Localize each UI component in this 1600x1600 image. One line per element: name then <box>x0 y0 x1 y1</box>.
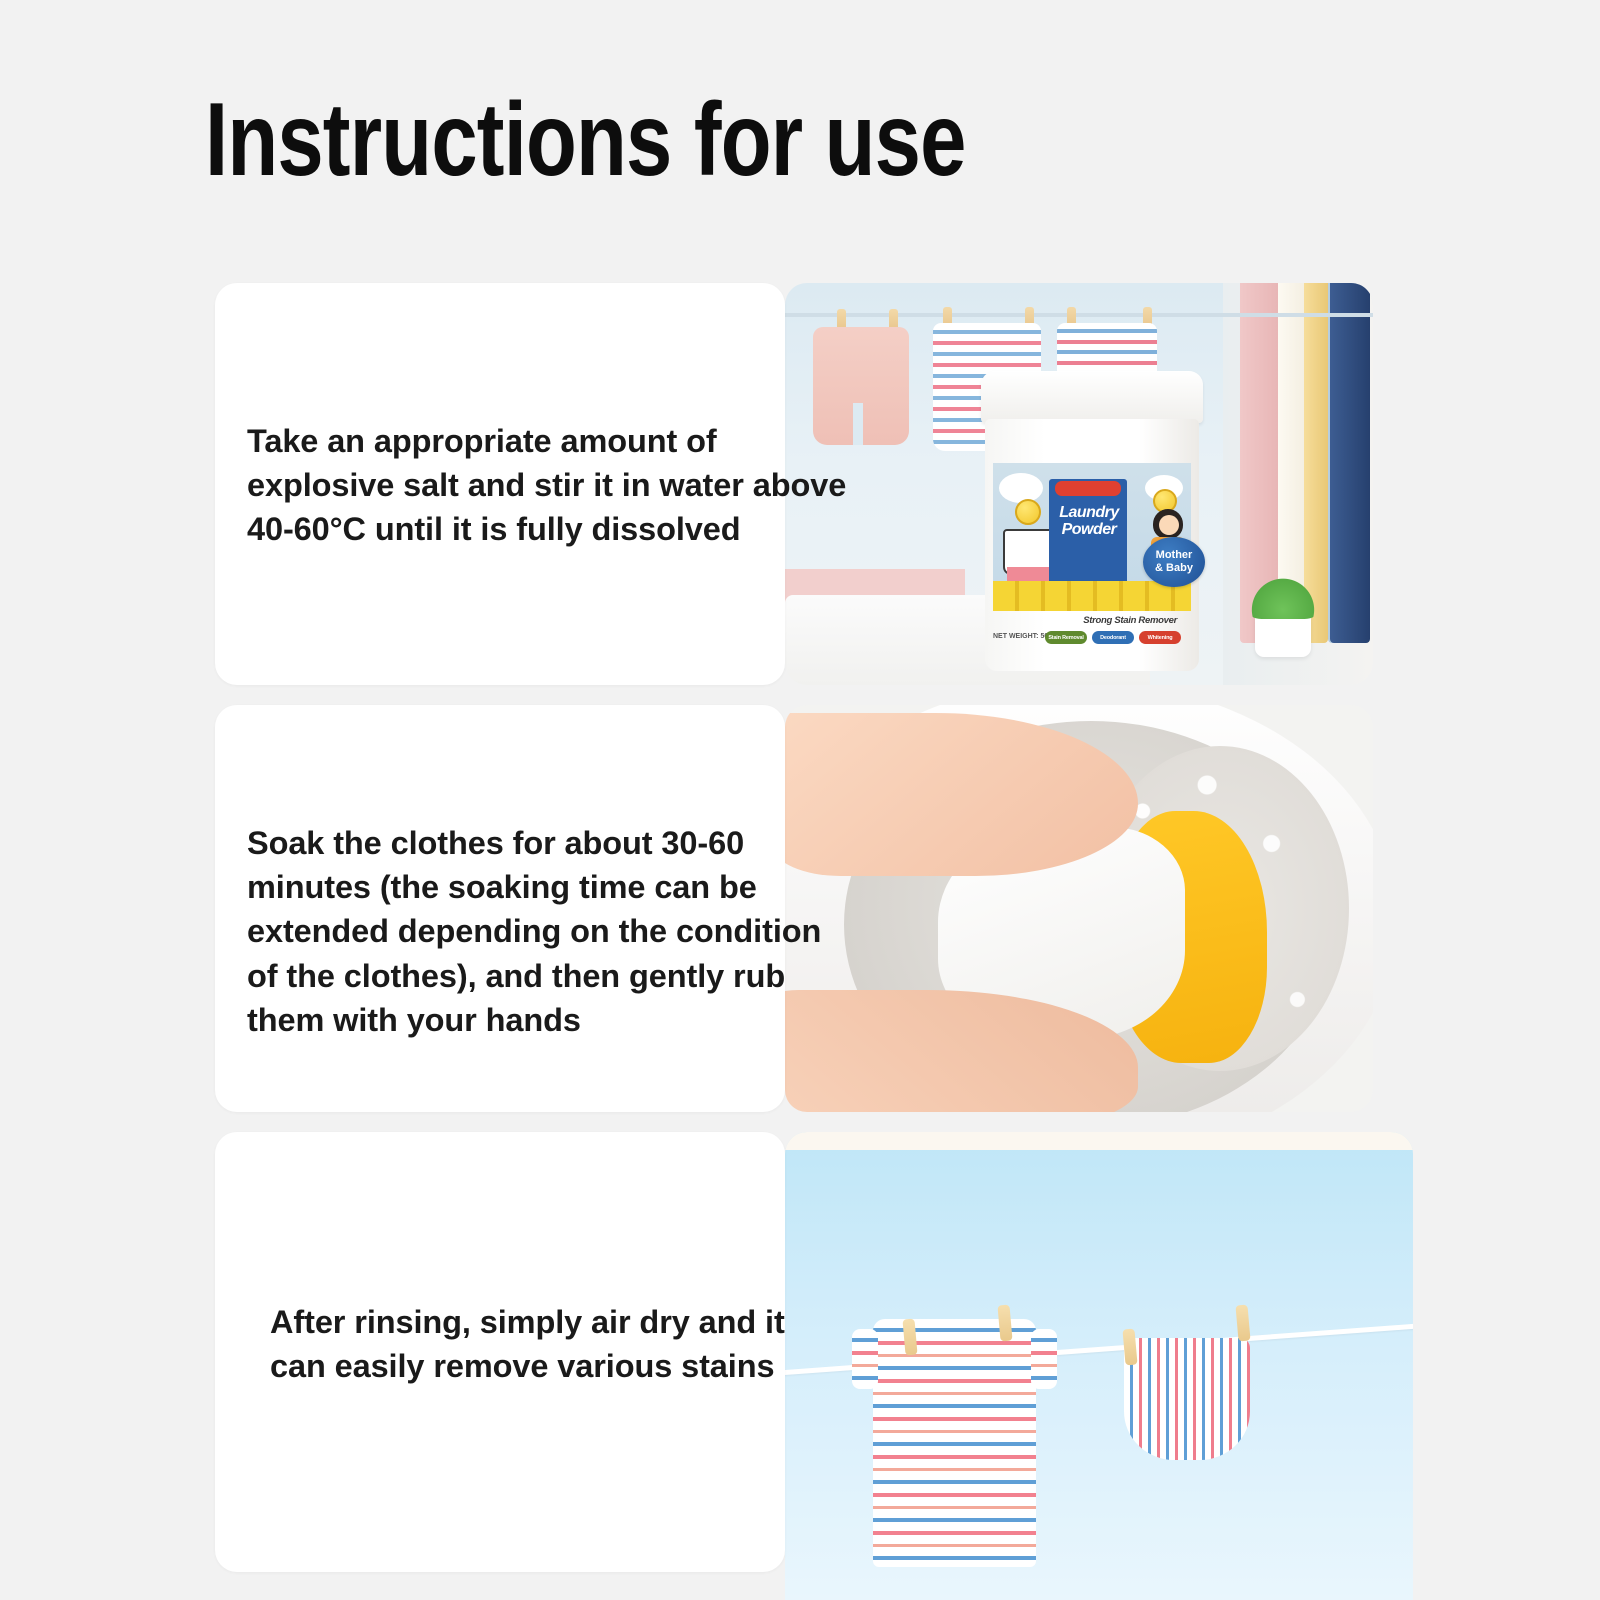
jar-subtitle: Strong Stain Remover <box>985 615 1199 626</box>
jar-brand-line-1: Laundry <box>1051 505 1127 522</box>
badge-line-2: & Baby <box>1155 562 1193 575</box>
step-1-image-pane: Laundry Powder Strong Stain Remover NET … <box>785 283 1373 685</box>
lemon-shape <box>1015 499 1041 525</box>
feature-tag: Whitening <box>1139 631 1181 644</box>
step-1-body: Take an appropriate amount of explosive … <box>247 419 867 552</box>
cartoon-girl-face <box>1159 515 1179 535</box>
step-card-3: Step03 After rinsing, simply air dry and… <box>215 1132 1413 1572</box>
jar-feature-tags: Stain Removal Deodorant Whitening <box>1045 631 1181 644</box>
mother-and-baby-badge: Mother & Baby <box>1143 537 1205 587</box>
step-3-image-pane <box>785 1132 1413 1600</box>
feature-tag: Stain Removal <box>1045 631 1087 644</box>
cloud-shape <box>999 473 1043 503</box>
clothespin-icon <box>1123 1328 1138 1365</box>
lemon-row <box>993 581 1191 611</box>
clothesline <box>785 313 1373 317</box>
step-card-2: Step02 Soak the clothes for about 30-60 … <box>215 705 1373 1112</box>
potted-plant <box>1255 613 1311 657</box>
towel-navy <box>1330 283 1370 643</box>
baby-striped-bloomers <box>1124 1338 1250 1460</box>
step-2-body: Soak the clothes for about 30-60 minutes… <box>247 821 827 1042</box>
jar-lid <box>981 371 1203 423</box>
clothespin-icon <box>997 1305 1012 1342</box>
jar-red-tag <box>1055 481 1121 496</box>
hands-washing-clothes-in-basin-photo <box>785 705 1373 1112</box>
step-card-1: Laundry Powder Strong Stain Remover NET … <box>215 283 1373 685</box>
clothespin-icon <box>1236 1305 1251 1342</box>
badge-line-1: Mother <box>1156 549 1193 562</box>
product-jar: Laundry Powder Strong Stain Remover NET … <box>981 371 1203 671</box>
step-2-image-pane <box>785 705 1373 1112</box>
baby-striped-top <box>873 1319 1036 1567</box>
feature-tag: Deodorant <box>1092 631 1134 644</box>
laundry-powder-jar-on-counter-photo: Laundry Powder Strong Stain Remover NET … <box>785 283 1373 685</box>
baby-clothes-drying-on-clothesline-photo <box>785 1132 1413 1600</box>
jar-brand-name: Laundry Powder <box>1051 505 1127 539</box>
page-title: Instructions for use <box>205 88 966 192</box>
top-rail <box>785 1132 1413 1150</box>
jar-label-artwork: Laundry Powder <box>993 463 1191 611</box>
step-3-body: After rinsing, simply air dry and it can… <box>270 1300 800 1388</box>
jar-brand-line-2: Powder <box>1051 522 1127 539</box>
